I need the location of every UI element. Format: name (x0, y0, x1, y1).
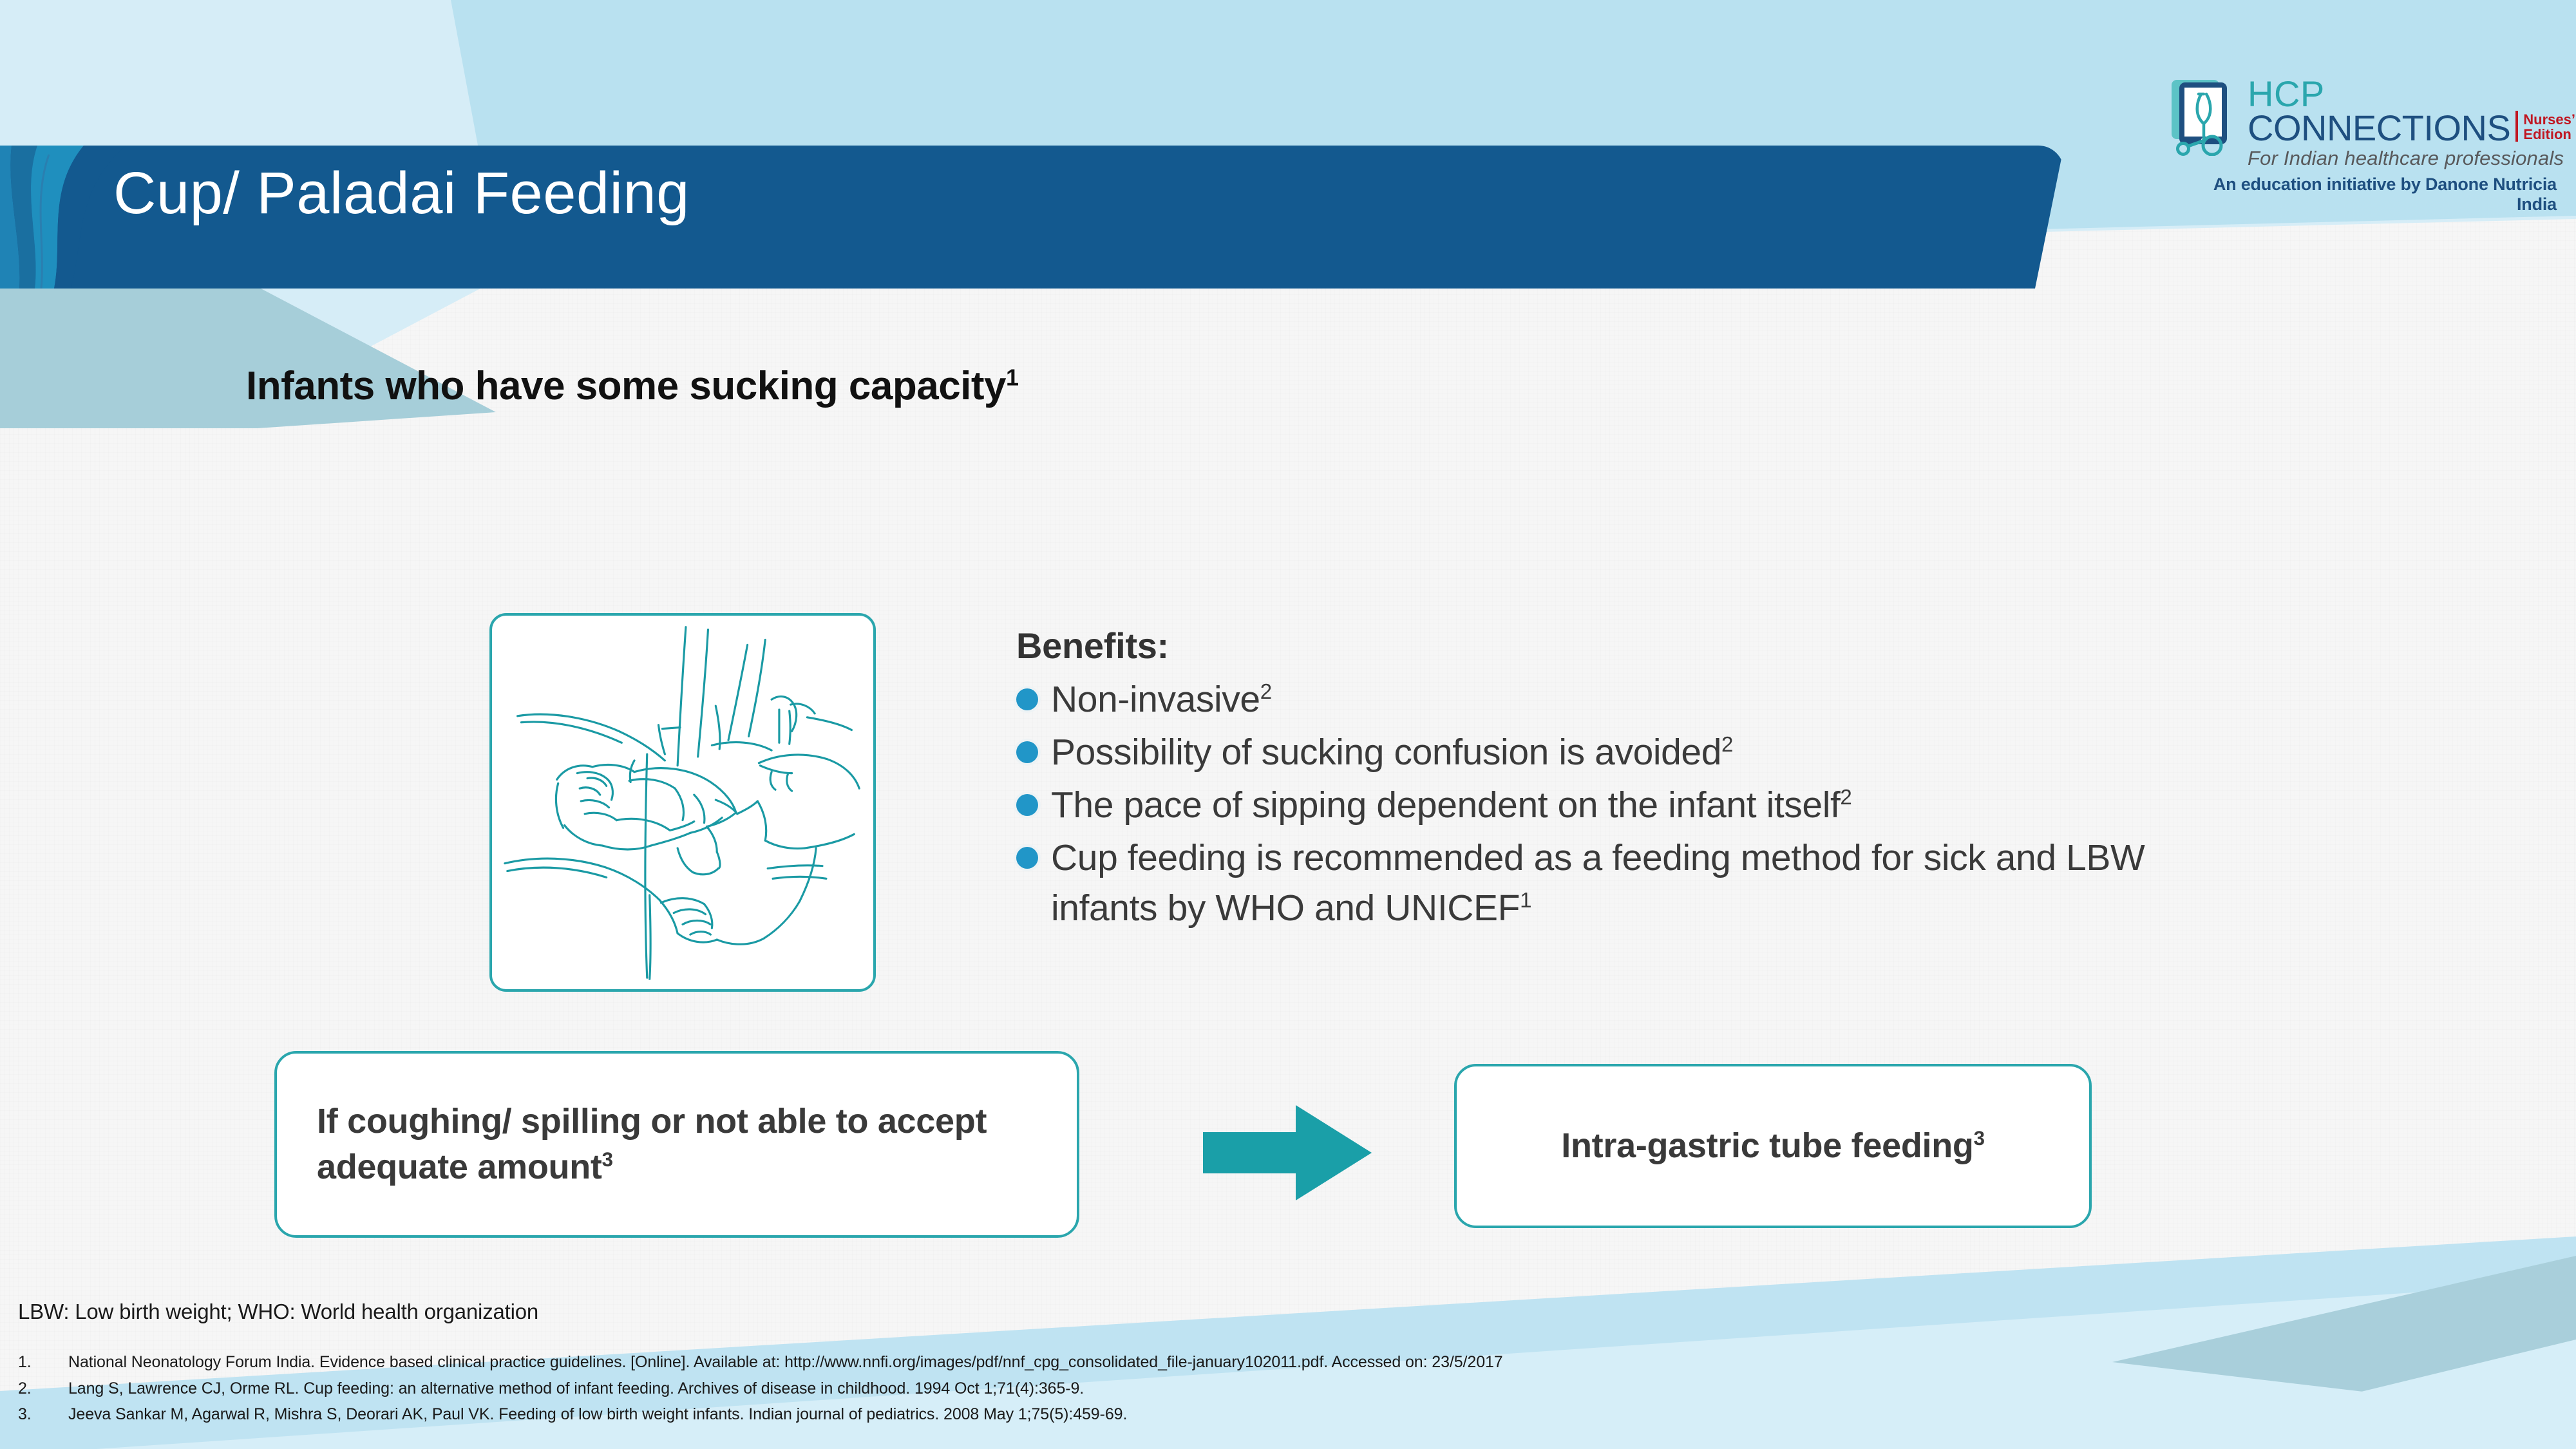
benefits-block: Benefits: Non-invasive2 Possibility of s… (1016, 625, 2240, 936)
benefit-text: Possibility of sucking confusion is avoi… (1051, 727, 1733, 777)
bg-shape-bottom-right-pale (2125, 1340, 2576, 1449)
logo-line-hcp: HCP (2248, 77, 2575, 111)
bullet-icon (1016, 847, 1038, 869)
reference-item: 3. Jeeva Sankar M, Agarwal R, Mishra S, … (18, 1401, 1503, 1428)
benefit-superscript: 2 (1260, 680, 1272, 704)
hcp-connections-logo: HCP CONNECTIONS Nurses’ Edition For Indi… (2170, 77, 2557, 214)
list-item: Possibility of sucking confusion is avoi… (1016, 727, 2240, 777)
right-arrow-icon (1199, 1095, 1379, 1211)
reference-text: Lang S, Lawrence CJ, Orme RL. Cup feedin… (68, 1376, 1084, 1402)
logo-tagline: For Indian healthcare professionals (2248, 147, 2575, 170)
result-box: Intra-gastric tube feeding3 (1454, 1064, 2092, 1228)
benefit-superscript: 1 (1520, 889, 1531, 913)
list-item: The pace of sipping dependent on the inf… (1016, 780, 2240, 830)
condition-box-text: If coughing/ spilling or not able to acc… (317, 1099, 1037, 1191)
benefit-text: The pace of sipping dependent on the inf… (1051, 780, 1851, 830)
reference-number: 1. (18, 1349, 68, 1376)
bullet-icon (1016, 741, 1038, 763)
page-title: Cup/ Paladai Feeding (113, 160, 690, 227)
benefit-text: Cup feeding is recommended as a feeding … (1051, 833, 2240, 933)
result-superscript: 3 (1974, 1127, 1985, 1150)
paladai-feeding-illustration (489, 613, 876, 992)
result-box-text: Intra-gastric tube feeding3 (1561, 1123, 1984, 1169)
logo-nurses-edition-badge: Nurses’ Edition (2515, 111, 2575, 142)
references-list: 1. National Neonatology Forum India. Evi… (18, 1349, 1503, 1428)
reference-text: Jeeva Sankar M, Agarwal R, Mishra S, Deo… (68, 1401, 1127, 1428)
benefits-title: Benefits: (1016, 625, 2240, 667)
benefit-text: Non-invasive2 (1051, 674, 1272, 724)
reference-number: 3. (18, 1401, 68, 1428)
slide-canvas: Cup/ Paladai Feeding HCP (0, 0, 2576, 1449)
tablet-stethoscope-icon (2170, 79, 2240, 159)
section-headline-text: Infants who have some sucking capacity (246, 364, 1006, 408)
benefit-superscript: 2 (1721, 733, 1733, 757)
logo-sponsor-line: An education initiative by Danone Nutric… (2170, 175, 2557, 214)
reference-item: 2. Lang S, Lawrence CJ, Orme RL. Cup fee… (18, 1376, 1503, 1402)
section-headline: Infants who have some sucking capacity1 (246, 363, 1019, 409)
section-headline-superscript: 1 (1006, 364, 1019, 390)
list-item: Cup feeding is recommended as a feeding … (1016, 833, 2240, 933)
condition-superscript: 3 (602, 1148, 613, 1171)
benefit-superscript: 2 (1840, 786, 1851, 810)
condition-box: If coughing/ spilling or not able to acc… (274, 1051, 1079, 1238)
logo-line-connections: CONNECTIONS (2248, 111, 2510, 145)
reference-text: National Neonatology Forum India. Eviden… (68, 1349, 1503, 1376)
reference-item: 1. National Neonatology Forum India. Evi… (18, 1349, 1503, 1376)
logo-badge-line2: Edition (2523, 127, 2575, 142)
abbreviations-note: LBW: Low birth weight; WHO: World health… (18, 1300, 538, 1324)
list-item: Non-invasive2 (1016, 674, 2240, 724)
logo-badge-line1: Nurses’ (2523, 112, 2575, 127)
reference-number: 2. (18, 1376, 68, 1402)
bg-shape-bottom-right-teal (2112, 1256, 2576, 1449)
bullet-icon (1016, 794, 1038, 816)
bullet-icon (1016, 688, 1038, 710)
